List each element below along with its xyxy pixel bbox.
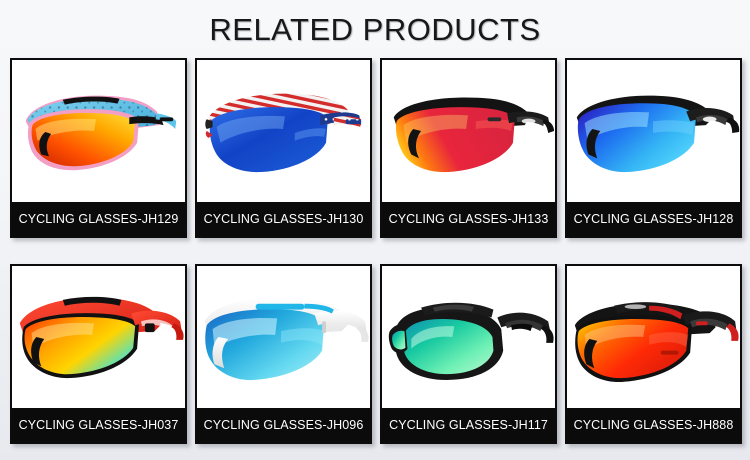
product-image-jh117 [382,266,555,408]
product-card[interactable]: CYCLING GLASSES-JH133 [380,58,557,238]
product-card[interactable]: CYCLING GLASSES-JH096 [195,264,372,444]
product-card[interactable]: CYCLING GLASSES-JH037 [10,264,187,444]
product-label: CYCLING GLASSES-JH117 [382,408,555,442]
product-card[interactable]: CYCLING GLASSES-JH888 [565,264,742,444]
product-label: CYCLING GLASSES-JH133 [382,202,555,236]
product-grid: CYCLING GLASSES-JH129 [10,58,750,444]
product-label: CYCLING GLASSES-JH096 [197,408,370,442]
product-image-jh096 [197,266,370,408]
product-label: CYCLING GLASSES-JH130 [197,202,370,236]
product-image-jh037 [12,266,185,408]
page-title: RELATED PRODUCTS [0,0,750,47]
product-card[interactable]: CYCLING GLASSES-JH128 [565,58,742,238]
product-card[interactable]: CYCLING GLASSES-JH129 [10,58,187,238]
product-card[interactable]: CYCLING GLASSES-JH117 [380,264,557,444]
product-label: CYCLING GLASSES-JH129 [12,202,185,236]
product-label: CYCLING GLASSES-JH128 [567,202,740,236]
product-image-jh128 [567,60,740,202]
product-image-jh133 [382,60,555,202]
product-image-jh888 [567,266,740,408]
product-card[interactable]: CYCLING GLASSES-JH130 [195,58,372,238]
product-label: CYCLING GLASSES-JH888 [567,408,740,442]
product-label: CYCLING GLASSES-JH037 [12,408,185,442]
product-image-jh130 [197,60,370,202]
product-image-jh129 [12,60,185,202]
related-products-page: RELATED PRODUCTS [0,0,750,460]
